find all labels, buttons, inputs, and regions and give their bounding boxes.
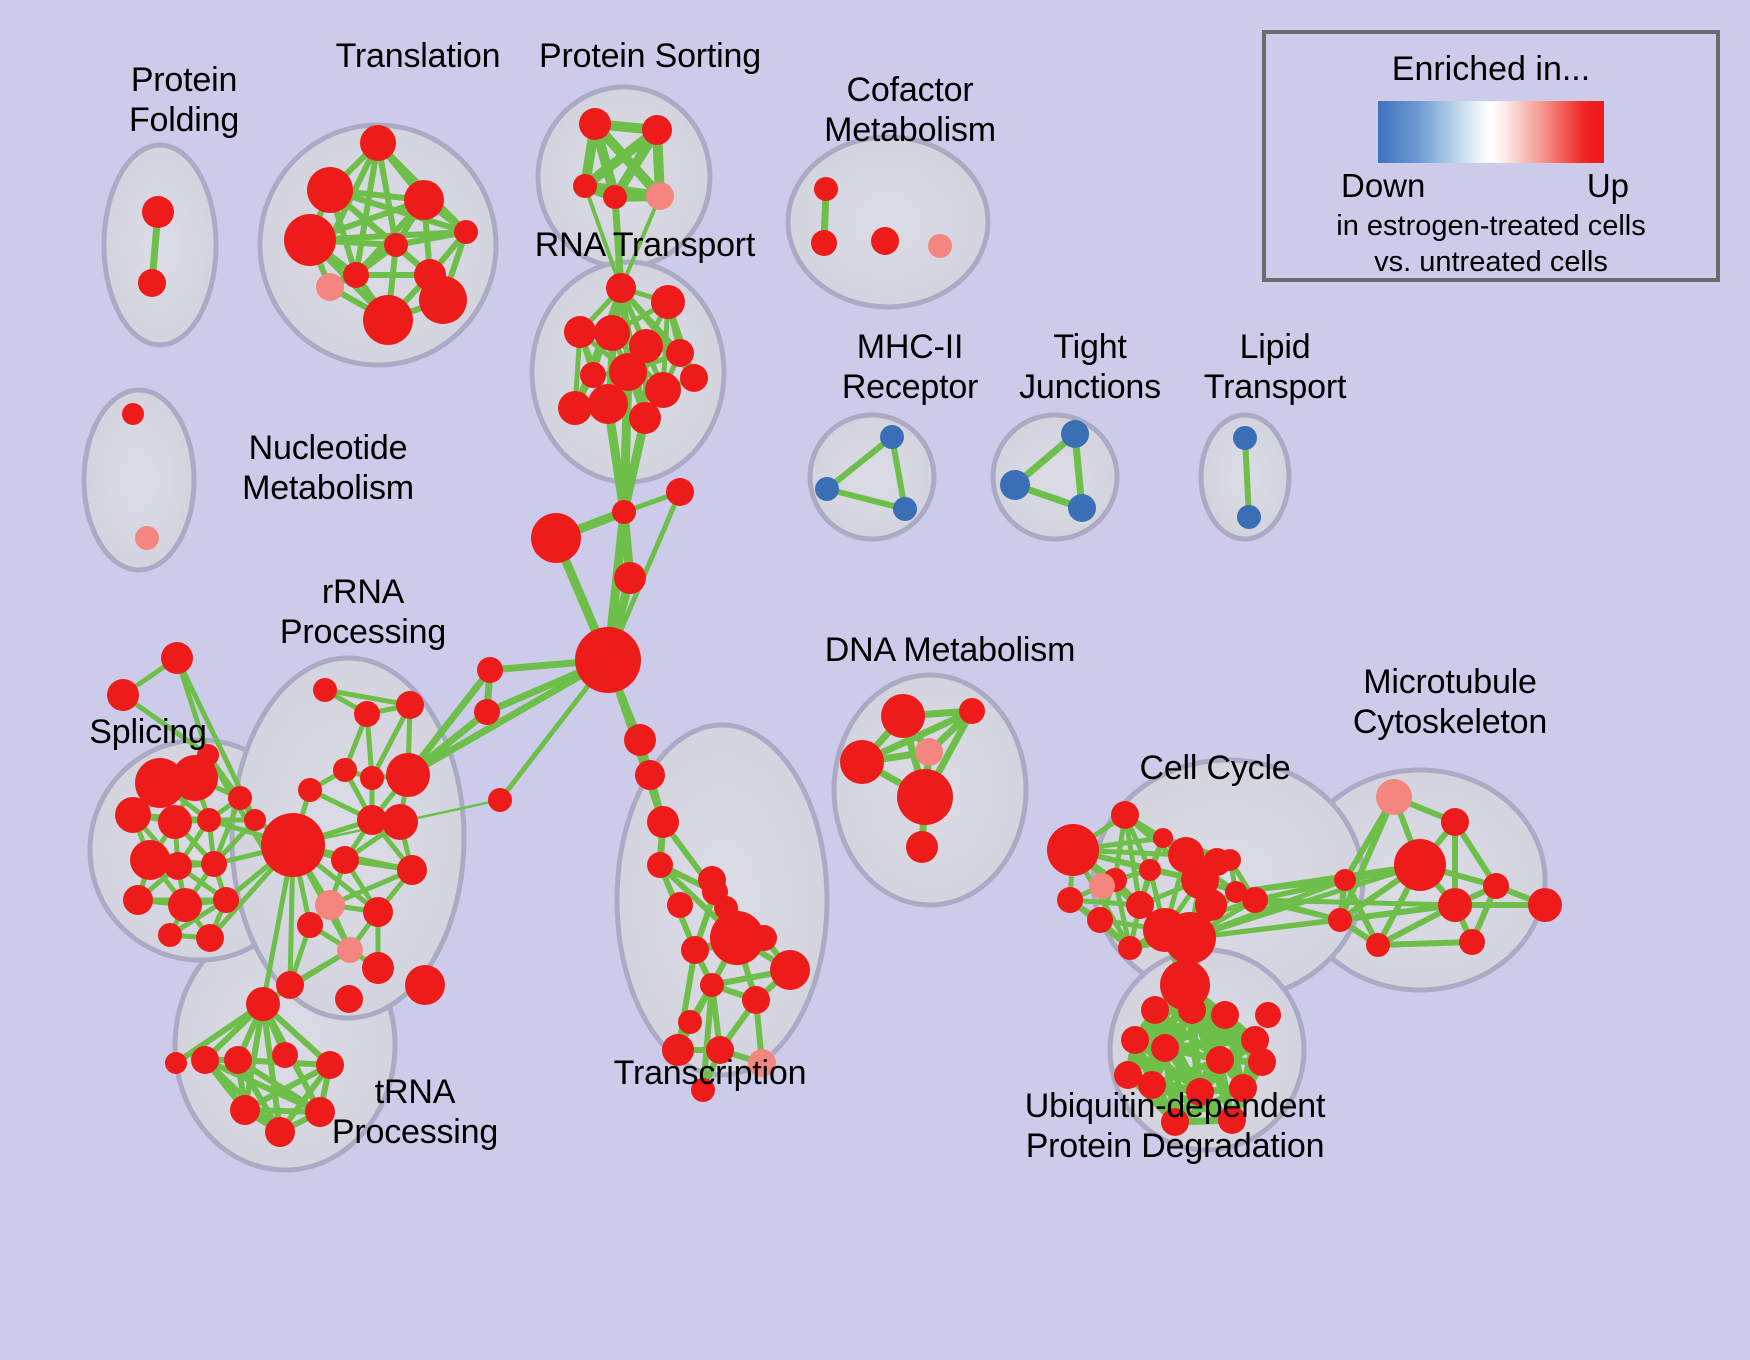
cluster-ellipse-mhc-ii-receptor [810,415,934,539]
node [1211,1001,1239,1029]
legend-high-label: Up [1587,167,1629,205]
node [382,804,418,840]
node [122,403,144,425]
node [313,678,337,702]
node [405,965,445,1005]
node [362,952,394,984]
node [363,897,393,927]
node [770,950,810,990]
node [265,1117,295,1147]
node [1528,888,1562,922]
node [811,230,837,256]
node [298,778,322,802]
node [666,478,694,506]
node [164,852,192,880]
node [678,1010,702,1034]
node [158,805,192,839]
node [580,362,606,388]
node [666,339,694,367]
node [645,372,681,408]
node [1121,1026,1149,1054]
node [213,887,239,913]
node [1089,873,1115,899]
node [1242,887,1268,913]
node [698,866,726,894]
node [635,760,665,790]
node [333,758,357,782]
node [1206,1046,1234,1074]
node [1483,873,1509,899]
node [1068,494,1096,522]
node [488,788,512,812]
node [959,698,985,724]
node [115,797,151,833]
node [1328,908,1352,932]
node [1195,889,1227,921]
node [1061,420,1089,448]
cluster-label-nucleotide-metabolism: Nucleotide Metabolism [198,428,458,508]
node [337,937,363,963]
cluster-label-rrna-processing: rRNA Processing [248,572,478,652]
node [1366,933,1390,957]
node [1376,779,1412,815]
node [165,1052,187,1074]
node [815,477,839,501]
node [915,738,943,766]
node [579,108,611,140]
node [315,890,345,920]
node [1151,1034,1179,1062]
node [646,182,674,210]
node [1000,470,1030,500]
legend-color-gradient-bar [1378,101,1604,163]
node [130,840,170,880]
node [681,936,709,964]
node [897,769,953,825]
node [1153,828,1173,848]
node [1334,869,1356,891]
cluster-label-rna-transport: RNA Transport [500,225,790,265]
node [1118,936,1142,960]
node [142,196,174,228]
legend-caption-line1: in estrogen-treated cells [1266,209,1716,243]
node [1141,996,1169,1024]
node [297,912,323,938]
node [474,699,500,725]
node [158,923,182,947]
node [384,233,408,257]
node [647,806,679,838]
node [335,985,363,1013]
node [363,295,413,345]
color-legend: Enriched in... Down Up in estrogen-treat… [1262,30,1720,282]
cluster-label-dna-metabolism: DNA Metabolism [800,630,1100,670]
node [603,185,627,209]
node [419,276,467,324]
node [667,892,693,918]
node [893,497,917,521]
node [606,273,636,303]
cluster-ellipse-protein-folding [104,145,216,345]
node [558,391,592,425]
node [642,115,672,145]
legend-endpoint-labels: Down Up [1341,167,1641,207]
node [354,701,380,727]
node [107,679,139,711]
node [624,724,656,756]
node [246,987,280,1021]
cluster-label-microtubule: Microtubule Cytoskeleton [1300,662,1600,742]
node [1248,1048,1276,1076]
cluster-label-trna-processing: tRNA Processing [300,1072,530,1152]
node [197,808,221,832]
node [612,500,636,524]
node [1111,801,1139,829]
node [396,691,424,719]
node [228,786,252,810]
node [404,180,444,220]
node [284,214,336,266]
node [871,227,899,255]
enrichment-map-figure: Protein Folding Translation Protein Sort… [0,0,1750,1360]
legend-low-label: Down [1341,167,1425,205]
node [1203,848,1231,876]
node [201,851,227,877]
node [614,562,646,594]
node [1459,929,1485,955]
node [307,167,353,213]
node [1114,1061,1142,1089]
node [123,885,153,915]
node [224,1046,252,1074]
node [172,755,218,801]
node [751,925,777,951]
node [1139,859,1161,881]
node [196,924,224,952]
cluster-label-protein-sorting: Protein Sorting [500,36,800,76]
node [814,177,838,201]
node [680,364,708,392]
node [477,657,503,683]
node [588,384,628,424]
node [594,315,630,351]
node [316,273,344,301]
node [1178,996,1206,1024]
node [161,642,193,674]
cluster-label-cell-cycle: Cell Cycle [1095,748,1335,788]
node [1057,887,1083,913]
node [1047,824,1099,876]
legend-caption-line2: vs. untreated cells [1266,245,1716,279]
node [261,813,325,877]
node [564,316,596,348]
cluster-label-tight-junctions: Tight Junctions [985,327,1195,407]
node [331,846,359,874]
node [714,896,738,920]
node [360,766,384,790]
node [357,805,387,835]
node [700,973,724,997]
node [647,852,673,878]
cluster-ellipse-cofactor-metabolism [788,137,988,307]
node [1441,808,1469,836]
cluster-label-ubiquitin: Ubiquitin-dependent Protein Degradation [985,1086,1365,1166]
cluster-label-transcription: Transcription [570,1053,850,1093]
node [1087,907,1113,933]
legend-title: Enriched in... [1266,50,1716,89]
node [360,125,396,161]
node [168,888,202,922]
node [906,831,938,863]
node [343,262,369,288]
node [1394,839,1446,891]
node [1237,505,1261,529]
node [191,1046,219,1074]
node [742,986,770,1014]
cluster-label-protein-folding: Protein Folding [84,60,284,140]
node [244,809,266,831]
node [135,526,159,550]
node [573,174,597,198]
node [1438,888,1472,922]
node [651,285,685,319]
node [1233,426,1257,450]
node [840,740,884,784]
node [386,753,430,797]
node [928,234,952,258]
node [629,402,661,434]
node [454,220,478,244]
node [230,1095,260,1125]
cluster-label-splicing: Splicing [58,712,238,752]
node [138,269,166,297]
node [397,855,427,885]
node [881,694,925,738]
node [880,425,904,449]
node [272,1042,298,1068]
node [276,971,304,999]
node [1255,1002,1281,1028]
cluster-label-lipid-transport: Lipid Transport [1165,327,1385,407]
cluster-label-cofactor-metabolism: Cofactor Metabolism [790,70,1030,150]
node [575,627,641,693]
node [531,513,581,563]
